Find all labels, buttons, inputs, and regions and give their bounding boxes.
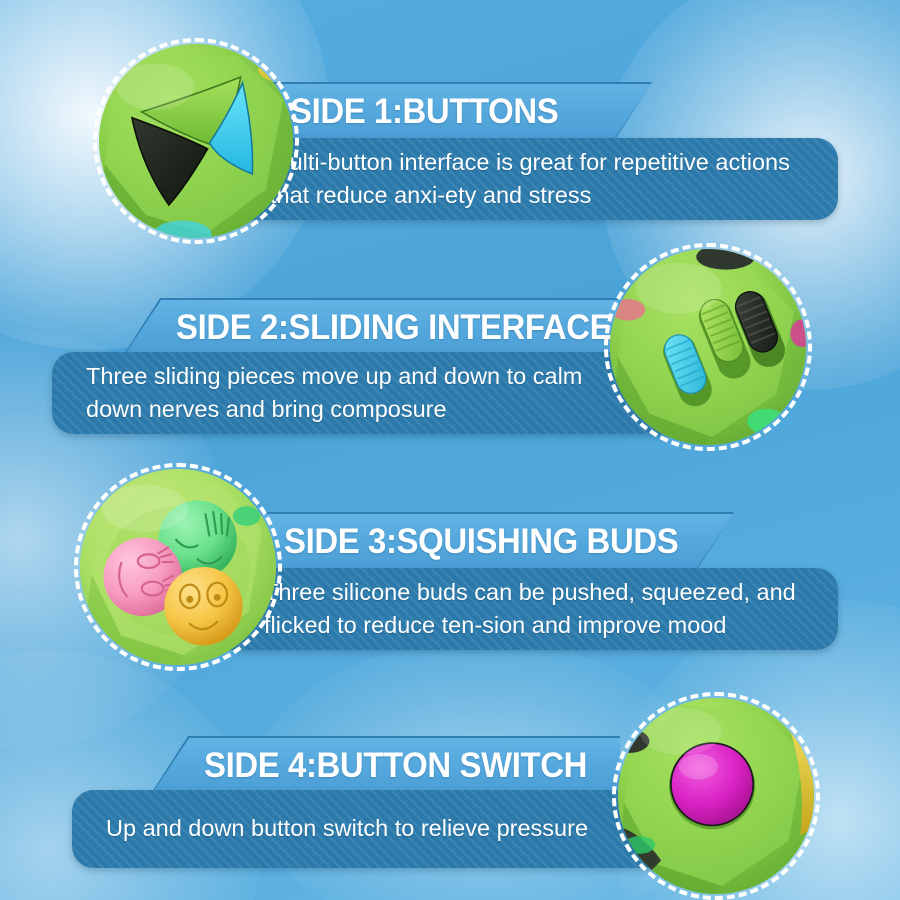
feature-3-title-bar: SIDE 3:SQUISHING BUDS xyxy=(262,512,734,568)
feature-4-body: Up and down button switch to relieve pre… xyxy=(106,812,640,845)
feature-3-body-panel: Three silicone buds can be pushed, squee… xyxy=(234,568,838,650)
infographic-canvas: SIDE 1:BUTTONS Multi-button interface is… xyxy=(0,0,900,900)
feature-3-product-photo xyxy=(74,463,282,671)
feature-3-title: SIDE 3:SQUISHING BUDS xyxy=(284,524,678,559)
feature-4-product-photo xyxy=(612,692,820,900)
feature-2-body: Three sliding pieces move up and down to… xyxy=(86,360,636,427)
feature-3-body: Three silicone buds can be pushed, squee… xyxy=(264,576,804,643)
feature-4-title: SIDE 4:BUTTON SWITCH xyxy=(204,748,587,783)
feature-1-body: Multi-button interface is great for repe… xyxy=(270,146,804,213)
feature-2-body-panel: Three sliding pieces move up and down to… xyxy=(52,352,666,434)
feature-2-title: SIDE 2:SLIDING INTERFACE xyxy=(176,310,611,345)
feature-1-product-photo xyxy=(93,38,299,244)
feature-4-photo-image xyxy=(618,698,814,894)
feature-1-photo-image xyxy=(99,44,293,238)
feature-2-title-bar: SIDE 2:SLIDING INTERFACE xyxy=(124,298,618,354)
feature-1-body-panel: Multi-button interface is great for repe… xyxy=(240,138,838,220)
feature-3-photo-image xyxy=(80,469,276,665)
feature-2-photo-image xyxy=(610,249,806,445)
feature-2-product-photo xyxy=(604,243,812,451)
feature-4-title-bar: SIDE 4:BUTTON SWITCH xyxy=(152,736,620,792)
feature-1-title-bar: SIDE 1:BUTTONS xyxy=(268,82,652,138)
feature-4-body-panel: Up and down button switch to relieve pre… xyxy=(72,790,670,868)
feature-1-title: SIDE 1:BUTTONS xyxy=(290,94,558,129)
